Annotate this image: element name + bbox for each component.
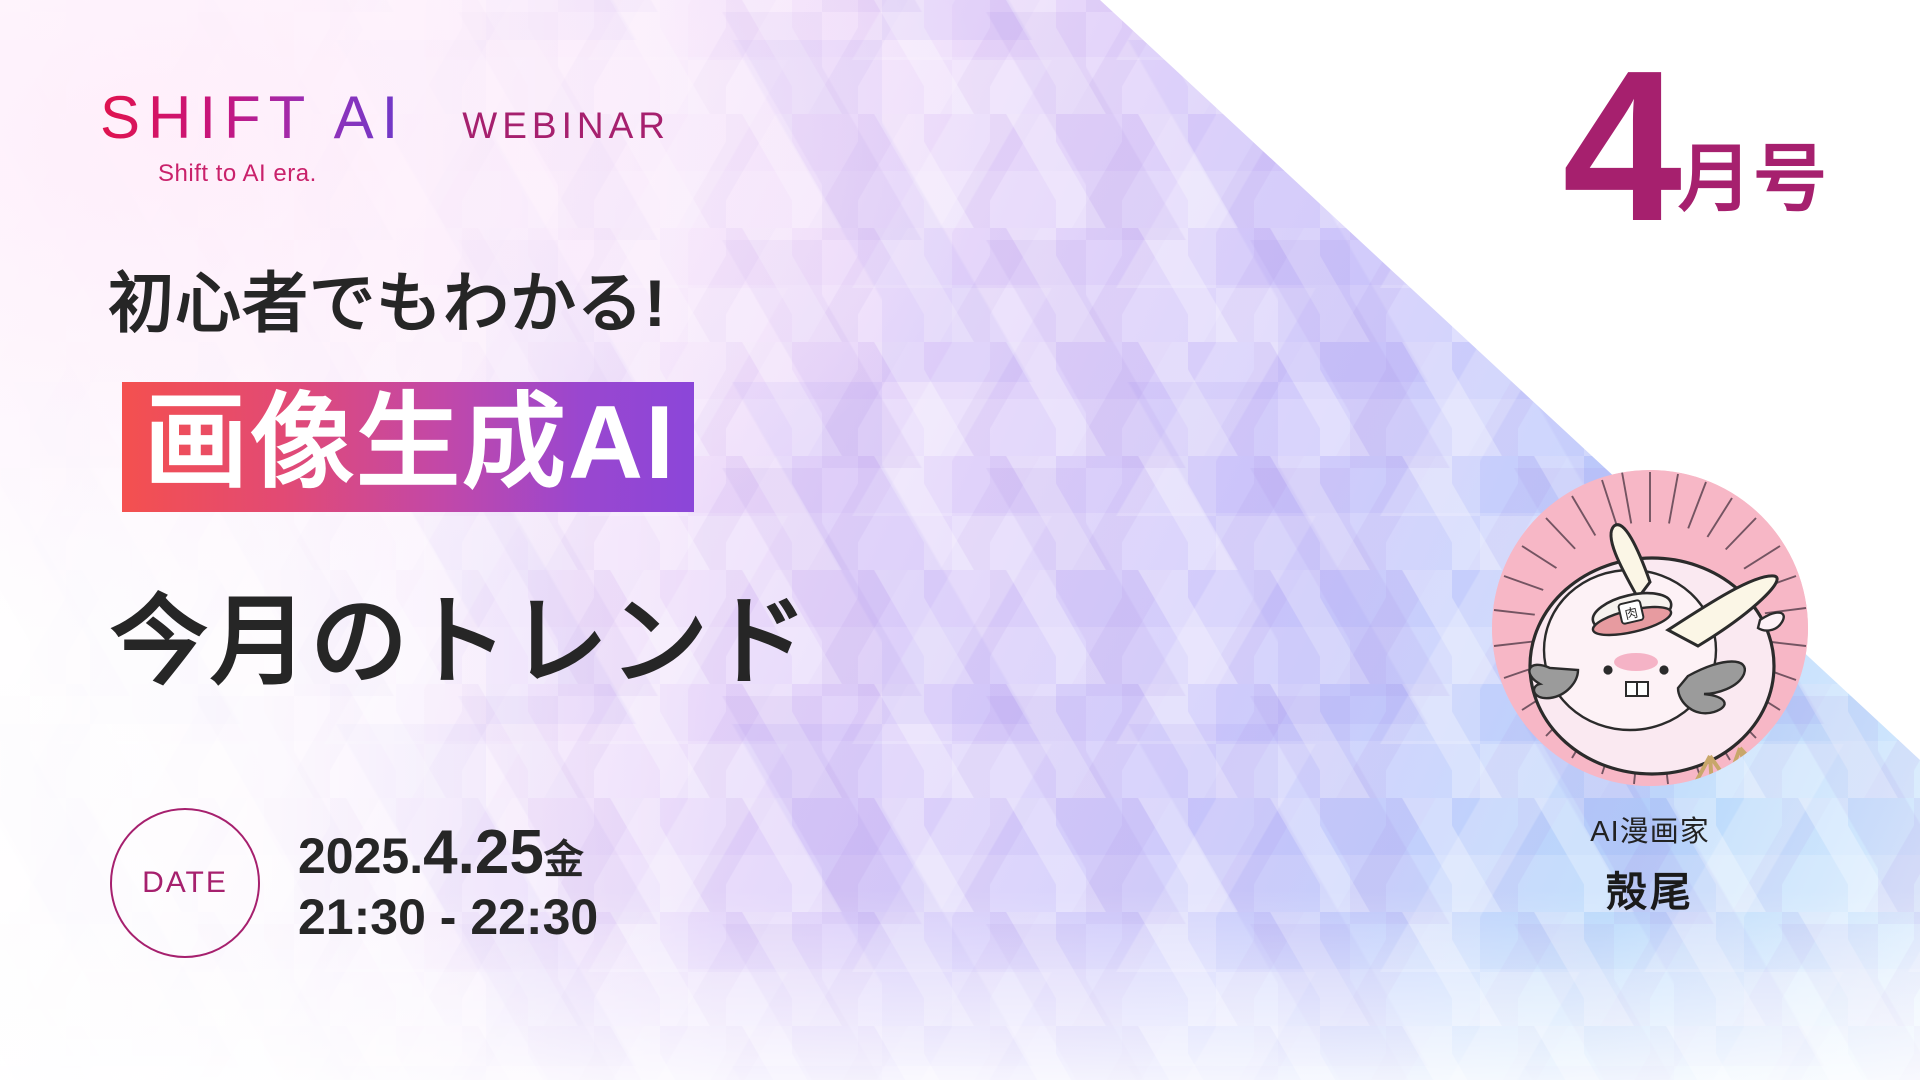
brand-logo-block: SHIFT AI WEBINAR Shift to AI era.	[100, 88, 670, 188]
date-badge-label: DATE	[142, 866, 228, 900]
date-year: 2025.	[298, 828, 423, 884]
speaker-name: 殻尾	[1492, 858, 1808, 918]
issue-suffix: 月号	[1678, 142, 1828, 232]
speaker-block: 肉	[1492, 470, 1808, 918]
shift-ai-wordmark: SHIFT AI	[100, 88, 406, 148]
rabbit-character-icon: 肉	[1492, 470, 1808, 786]
headline-highlight-box: 画像生成AI	[122, 382, 694, 512]
headline-line-3: 今月のトレンド	[110, 592, 810, 690]
date-month-day: 4.25	[423, 818, 544, 887]
issue-number-block: 4 月号	[1562, 60, 1828, 232]
issue-number: 4	[1562, 60, 1678, 232]
date-day-of-week: 金	[544, 838, 584, 882]
speaker-role: AI漫画家	[1492, 808, 1808, 850]
date-block: DATE 2025.4.25金 21:30 - 22:30	[110, 808, 598, 958]
speaker-avatar: 肉	[1492, 470, 1808, 786]
brand-tagline: Shift to AI era.	[158, 160, 670, 188]
date-time-range: 21:30 - 22:30	[298, 888, 598, 947]
headline-line-1: 初心者でもわかる!	[108, 270, 667, 336]
date-line-primary: 2025.4.25金	[298, 819, 598, 887]
date-text-block: 2025.4.25金 21:30 - 22:30	[298, 819, 598, 946]
webinar-banner: SHIFT AI WEBINAR Shift to AI era. 初心者でもわ…	[0, 0, 1920, 1080]
headline-line-2: 画像生成AI	[144, 388, 676, 498]
date-badge-circle: DATE	[110, 808, 260, 958]
webinar-label: WEBINAR	[462, 107, 670, 148]
